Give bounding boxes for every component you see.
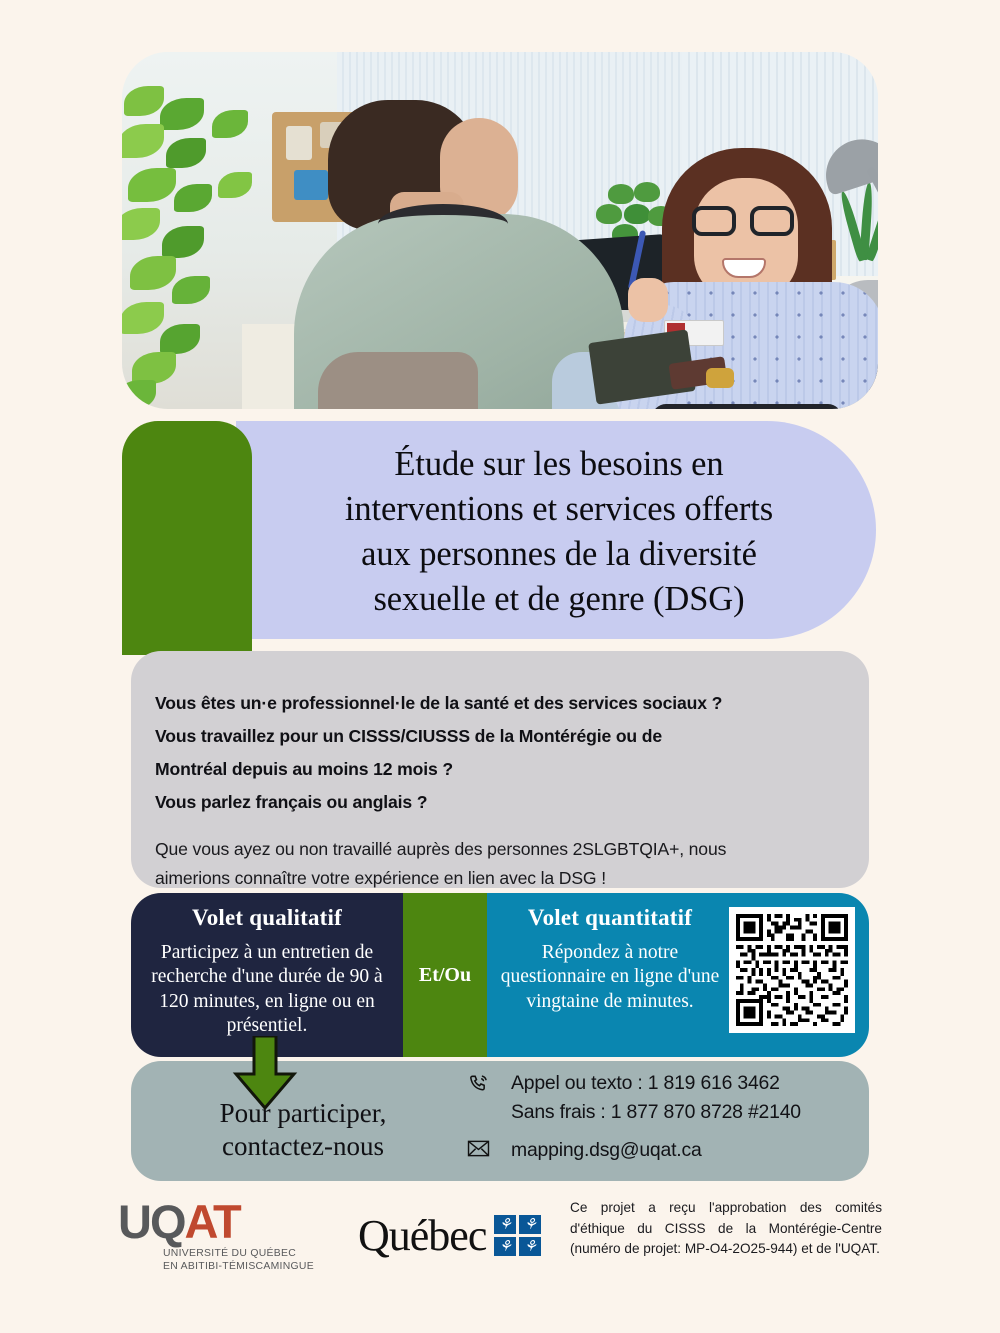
qr-code-icon[interactable] xyxy=(729,907,855,1033)
uqat-mark-dark: UQ xyxy=(118,1195,185,1248)
watch-icon xyxy=(706,368,734,388)
contact-email[interactable]: mapping.dsg@uqat.ca xyxy=(511,1136,702,1165)
poster-root: Étude sur les besoins en interventions e… xyxy=(0,0,1000,1333)
criteria-question-2: Vous travaillez pour un CISSS/CIUSSS de … xyxy=(155,720,845,753)
eligibility-questions: Vous êtes un·e professionnel·le de la sa… xyxy=(155,687,845,819)
volet-qualitatif: Volet qualitatif Participez à un entreti… xyxy=(131,893,403,1057)
eligibility-note: Que vous ayez ou non travaillé auprès de… xyxy=(155,835,845,892)
uqat-logo: UQAT UNIVERSITÉ DU QUÉBEC EN ABITIBI-TÉM… xyxy=(118,1198,314,1273)
page-title: Étude sur les besoins en interventions e… xyxy=(250,441,868,623)
criteria-question-1: Vous êtes un·e professionnel·le de la sa… xyxy=(155,687,845,720)
contact-phone-tollfree[interactable]: Sans frais : 1 877 870 8728 #2140 xyxy=(511,1098,801,1127)
participation-options: Volet qualitatif Participez à un entreti… xyxy=(131,893,869,1057)
volet-quantitatif: Volet quantitatif Répondez à notre quest… xyxy=(487,893,869,1057)
down-arrow-icon xyxy=(232,1036,298,1110)
criteria-question-4: Vous parlez français ou anglais ? xyxy=(155,786,845,819)
hanging-plant-icon xyxy=(122,80,294,409)
footer: UQAT UNIVERSITÉ DU QUÉBEC EN ABITIBI-TÉM… xyxy=(0,1190,1000,1310)
title-green-accent xyxy=(122,421,252,655)
volet-quantitatif-body: Répondez à notre questionnaire en ligne … xyxy=(491,941,729,1014)
criteria-note-line-1: Que vous ayez ou non travaillé auprès de… xyxy=(155,835,845,864)
contact-cta-line-2: contactez-nous xyxy=(145,1130,461,1163)
quebec-flag-icon xyxy=(494,1215,541,1256)
volet-qualitatif-body: Participez à un entretien de recherche d… xyxy=(141,941,393,1039)
volet-connector: Et/Ou xyxy=(403,893,487,1057)
contact-phone-primary[interactable]: Appel ou texto : 1 819 616 3462 xyxy=(511,1069,801,1098)
title-line-1: Étude sur les besoins en xyxy=(394,445,723,483)
quebec-logo: Québec xyxy=(358,1210,541,1261)
envelope-icon xyxy=(467,1136,511,1163)
contact-email-row: mapping.dsg@uqat.ca xyxy=(467,1136,869,1165)
ethics-statement: Ce projet a reçu l'approbation des comit… xyxy=(570,1198,882,1260)
contact-cta-line-1: Pour participer, xyxy=(145,1097,461,1130)
eligibility-panel: Vous êtes un·e professionnel·le de la sa… xyxy=(131,651,869,888)
quebec-wordmark: Québec xyxy=(358,1210,486,1261)
qr-code-svg xyxy=(736,914,848,1026)
volet-qualitatif-heading: Volet qualitatif xyxy=(141,905,393,931)
aloe-icon xyxy=(832,182,878,282)
title-line-4: sexuelle et de genre (DSG) xyxy=(373,580,744,618)
glasses-icon xyxy=(692,206,800,236)
uqat-tagline-1: UNIVERSITÉ DU QUÉBEC xyxy=(163,1247,314,1260)
contact-details: Appel ou texto : 1 819 616 3462 Sans fra… xyxy=(461,1069,869,1173)
contact-phone-row: Appel ou texto : 1 819 616 3462 Sans fra… xyxy=(467,1069,869,1126)
volet-quantitatif-heading: Volet quantitatif xyxy=(491,905,729,931)
hero-photo xyxy=(122,52,878,409)
title-line-3: aux personnes de la diversité xyxy=(361,535,757,573)
photo-scene xyxy=(122,52,878,409)
uqat-mark-red: AT xyxy=(185,1195,240,1248)
phone-icon xyxy=(467,1069,511,1100)
volet-connector-label: Et/Ou xyxy=(419,964,471,987)
criteria-question-3: Montréal depuis au moins 12 mois ? xyxy=(155,753,845,786)
uqat-tagline-2: EN ABITIBI-TÉMISCAMINGUE xyxy=(163,1260,314,1273)
title-line-2: interventions et services offerts xyxy=(345,490,773,528)
criteria-note-line-2: aimerions connaître votre expérience en … xyxy=(155,864,845,893)
